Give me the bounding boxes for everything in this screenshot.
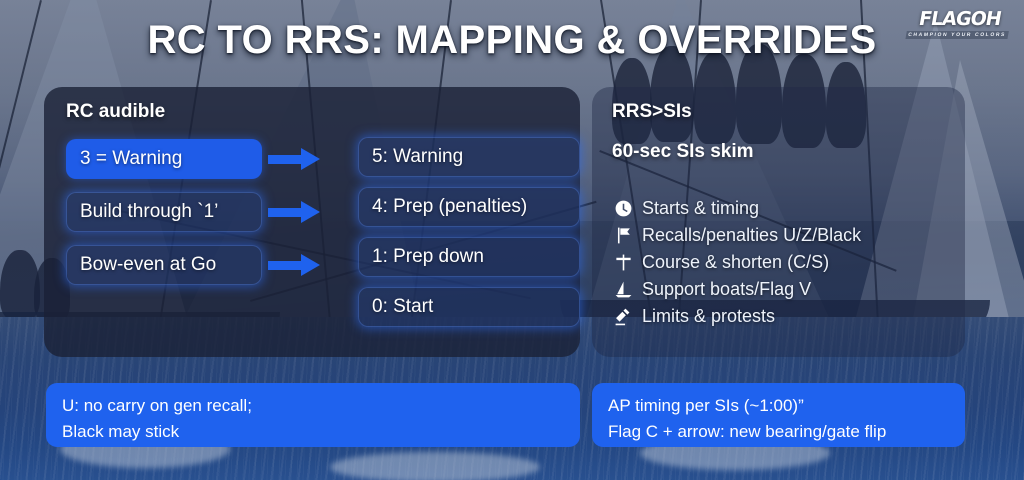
note-bar-left: U: no carry on gen recall; Black may sti… xyxy=(46,383,580,447)
sis-skim-list: Starts & timing Recalls/penalties U/Z/Bl… xyxy=(614,195,861,330)
list-item-label: Support boats/Flag V xyxy=(642,279,811,300)
mapping-row: 3 = Warning xyxy=(66,137,326,180)
note-bar-right: AP timing per SIs (~1:00)” Flag C + arro… xyxy=(592,383,965,447)
rrs-signal-chip[interactable]: 4: Prep (penalties) xyxy=(358,187,580,227)
flag-icon xyxy=(614,226,633,245)
logo-wordmark: FLAGOH xyxy=(907,10,1012,29)
rc-audible-chip[interactable]: 3 = Warning xyxy=(66,139,262,179)
note-line: Flag C + arrow: new bearing/gate flip xyxy=(608,419,949,445)
arrow-right-icon xyxy=(268,254,320,276)
list-item[interactable]: Recalls/penalties U/Z/Black xyxy=(614,222,861,249)
rc-audible-chip[interactable]: Build through `1’ xyxy=(66,192,262,232)
rrs-sis-heading: RRS>SIs xyxy=(612,101,692,123)
list-item[interactable]: Support boats/Flag V xyxy=(614,276,861,303)
note-line: U: no carry on gen recall; xyxy=(62,393,564,419)
arrow-right-icon xyxy=(268,148,320,170)
page-title: RC TO RRS: MAPPING & OVERRIDES xyxy=(0,18,1024,63)
note-line: Black may stick xyxy=(62,419,564,445)
rc-audible-heading: RC audible xyxy=(66,101,165,123)
list-item-label: Limits & protests xyxy=(642,306,775,327)
gavel-icon xyxy=(614,307,633,326)
list-item-label: Course & shorten (C/S) xyxy=(642,252,829,273)
rrs-sis-panel: RRS>SIs 60-sec SIs skim Starts & timing … xyxy=(592,87,965,357)
list-item[interactable]: Limits & protests xyxy=(614,303,861,330)
list-item-label: Recalls/penalties U/Z/Black xyxy=(642,225,861,246)
list-item[interactable]: Course & shorten (C/S) xyxy=(614,249,861,276)
mapping-row: Bow-even at Go xyxy=(66,243,326,286)
rc-audible-chip[interactable]: Bow-even at Go xyxy=(66,245,262,285)
signpost-icon xyxy=(614,253,633,272)
rc-audible-panel: RC audible 3 = Warning Build through `1’… xyxy=(44,87,580,357)
rrs-signal-list: 5: Warning 4: Prep (penalties) 1: Prep d… xyxy=(358,137,580,337)
list-item-label: Starts & timing xyxy=(642,198,759,219)
arrow-right-icon xyxy=(268,201,320,223)
rrs-signal-chip[interactable]: 1: Prep down xyxy=(358,237,580,277)
note-line: AP timing per SIs (~1:00)” xyxy=(608,393,949,419)
logo-tagline: CHAMPION YOUR COLORS xyxy=(906,31,1009,39)
mapping-row: Build through `1’ xyxy=(66,190,326,233)
sis-skim-subheading: 60-sec SIs skim xyxy=(612,141,754,163)
sailboat-icon xyxy=(614,280,633,299)
list-item[interactable]: Starts & timing xyxy=(614,195,861,222)
rrs-signal-chip[interactable]: 0: Start xyxy=(358,287,580,327)
clock-icon xyxy=(614,199,633,218)
rrs-signal-chip[interactable]: 5: Warning xyxy=(358,137,580,177)
brand-logo: FLAGOH CHAMPION YOUR COLORS xyxy=(906,10,1013,39)
mapping-rows: 3 = Warning Build through `1’ Bow-even a… xyxy=(66,137,326,296)
